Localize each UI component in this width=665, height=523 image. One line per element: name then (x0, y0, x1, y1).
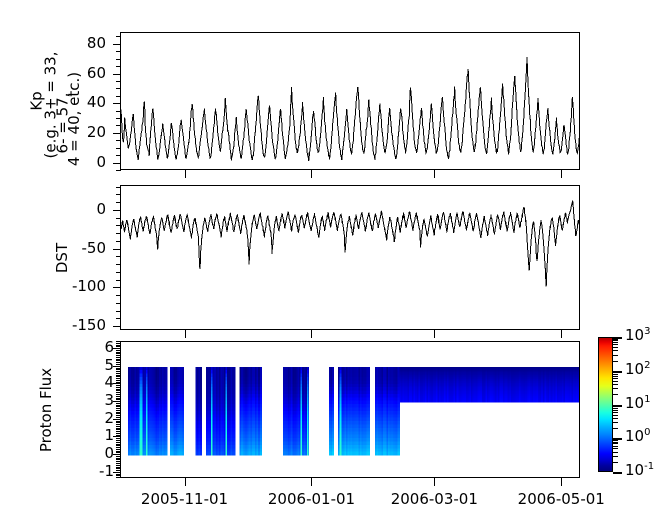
spectrogram-cell (332, 431, 334, 435)
spectrogram-spike-column (146, 394, 148, 398)
y-tick-minor (116, 51, 121, 52)
spectrogram-cell (200, 370, 202, 374)
spectrogram-spike-column (146, 374, 148, 378)
spectrogram-spike-column (301, 414, 303, 418)
spectrogram-spike-column (146, 452, 148, 456)
spectrogram-spike-column (139, 414, 141, 418)
spectrogram-cell (200, 448, 202, 452)
spectrogram-spike-column (307, 448, 309, 452)
spectrogram-cell (260, 452, 262, 456)
y-tick-label: 0 (58, 200, 106, 218)
spectrogram-cell (233, 384, 235, 388)
spectrogram-spike-column (225, 394, 227, 398)
spectrogram-cell (182, 394, 184, 398)
spectrogram-spike-column (340, 374, 342, 378)
spectrogram-spike-column (146, 414, 148, 418)
spectrogram-spike-column (211, 418, 213, 422)
spectrogram-cell (233, 394, 235, 398)
spectrogram-spike-column (141, 384, 143, 388)
spectrogram-spike-column (211, 397, 213, 401)
spectrogram-spike-column (225, 435, 227, 439)
spectrogram-spike-column (211, 448, 213, 452)
spectrogram-spike-column (225, 370, 227, 374)
spectrogram-spike-column (340, 414, 342, 418)
spectrogram-spike-column (225, 448, 227, 452)
spectrogram-cell (165, 384, 167, 388)
spectrogram-cell (165, 448, 167, 452)
spectrogram-spike-column (141, 367, 143, 371)
figure-canvas: 020406080 Kp (e.g. 3+ = 33, 6- = 57, 4 =… (0, 0, 665, 523)
spectrogram-spike-column (301, 384, 303, 388)
spectrogram-spike-column (307, 394, 309, 398)
y-tick-major (113, 133, 121, 134)
spectrogram-cell (182, 435, 184, 439)
x-tick-major (434, 170, 435, 178)
spectrogram-cell (260, 367, 262, 371)
spectrogram-cell (165, 374, 167, 378)
y-tick-minor (116, 202, 121, 203)
spectrogram-cell (200, 394, 202, 398)
x-tick-major (561, 170, 562, 178)
spectrogram-spike-column (141, 401, 143, 405)
spectrogram-cell (200, 414, 202, 418)
spectrogram-spike-column (146, 418, 148, 422)
spectrogram-spike-column (301, 397, 303, 401)
spectrogram-spike-column (307, 401, 309, 405)
spectrogram-cell (165, 452, 167, 456)
spectrogram-spike-column (301, 374, 303, 378)
spectrogram-spike-column (340, 367, 342, 371)
y-tick-minor (116, 118, 121, 119)
spectrogram-spike-column (225, 397, 227, 401)
y-tick-minor (116, 140, 121, 141)
spectrogram-spike-column (307, 370, 309, 374)
spectrogram-spike-column (225, 401, 227, 405)
spectrogram-cell (182, 414, 184, 418)
spectrogram-spike-column (139, 431, 141, 435)
spectrogram-spike-column (307, 397, 309, 401)
y-tick-minor (116, 148, 121, 149)
spectrogram-cell (182, 448, 184, 452)
y-tick-minor (116, 280, 121, 281)
spectrogram-cell (233, 370, 235, 374)
spectrogram-spike-column (225, 418, 227, 422)
spectrogram-cell (368, 435, 370, 439)
y-tick-minor (116, 311, 121, 312)
spectrogram-cell (165, 431, 167, 435)
spectrogram-spike-column (340, 401, 342, 405)
spectrogram-spike-column (211, 394, 213, 398)
spectrogram-spike-column (139, 394, 141, 398)
spectrogram-cell (332, 367, 334, 371)
spectrogram-spike-column (139, 401, 141, 405)
spectrogram-cell (398, 431, 400, 435)
spectrogram-spike-column (146, 435, 148, 439)
spectrogram-cell (368, 394, 370, 398)
spectrogram-spike-column (139, 435, 141, 439)
spectrogram-spike-column (139, 367, 141, 371)
spectrogram-spike-column (211, 374, 213, 378)
spectrogram-cell (182, 401, 184, 405)
spectrogram-cell (233, 397, 235, 401)
spectrogram-cell (200, 367, 202, 371)
spectrogram-cell (398, 414, 400, 418)
spectrogram-spike-column (146, 397, 148, 401)
spectrogram-spike-column (307, 452, 309, 456)
spectrogram-spike-column (301, 367, 303, 371)
y-tick-major (113, 74, 121, 75)
spectrogram-cell (233, 452, 235, 456)
spectrogram-cell (368, 414, 370, 418)
y-tick-minor (116, 295, 121, 296)
spectrogram-spike-column (141, 452, 143, 456)
spectrogram-spike-column (211, 367, 213, 371)
spectrogram-cell (368, 397, 370, 401)
spectrogram-spike-column (340, 448, 342, 452)
spectrogram-cell (332, 401, 334, 405)
spectrogram-spike-column (307, 374, 309, 378)
spectrogram-cell (398, 452, 400, 456)
spectrogram-cell (368, 384, 370, 388)
spectrogram-cell (233, 435, 235, 439)
spectrogram-spike-column (139, 418, 141, 422)
spectrogram-cell (260, 401, 262, 405)
spectrogram-cell (332, 384, 334, 388)
spectrogram-spike-column (340, 384, 342, 388)
spectrogram-spike-column (139, 370, 141, 374)
spectrogram-cell (368, 452, 370, 456)
y-tick-label: -150 (58, 316, 106, 334)
spectrogram-spike-column (225, 452, 227, 456)
y-tick-minor (116, 233, 121, 234)
spectrogram-cell (165, 370, 167, 374)
spectrogram-cell (260, 384, 262, 388)
y-tick-minor (116, 81, 121, 82)
dst-axis-title: DST (53, 242, 71, 272)
y-tick-major (113, 103, 121, 104)
spectrogram-cell (200, 452, 202, 456)
spectrogram-cell (165, 397, 167, 401)
spectrogram-spike-column (307, 414, 309, 418)
spectrogram-spike-column (141, 370, 143, 374)
spectrogram-cell (260, 374, 262, 378)
spectrogram-spike-column (307, 367, 309, 371)
panel-kp (120, 32, 580, 170)
spectrogram-spike-column (301, 401, 303, 405)
y-tick-minor (116, 88, 121, 89)
spectrogram-cell (332, 394, 334, 398)
y-tick-minor (116, 318, 121, 319)
spectrogram-cell (182, 374, 184, 378)
spectrogram-spike-column (301, 435, 303, 439)
spectrogram-cell (233, 414, 235, 418)
spectrogram-spike-column (340, 431, 342, 435)
spectrogram-cell (332, 397, 334, 401)
spectrogram-cell (260, 435, 262, 439)
spectrogram-spike-column (141, 414, 143, 418)
spectrogram-cell (398, 418, 400, 422)
spectrogram-cell (260, 431, 262, 435)
spectrogram-spike-column (139, 452, 141, 456)
spectrogram-spike-column (146, 401, 148, 405)
spectrogram-cell (200, 397, 202, 401)
spectrogram-spike-column (141, 435, 143, 439)
x-tick-major (434, 330, 435, 338)
spectrogram-spike-column (225, 431, 227, 435)
y-tick-minor (116, 96, 121, 97)
spectrogram-cell (260, 418, 262, 422)
x-tick-major (561, 330, 562, 338)
spectrogram-spike-column (141, 374, 143, 378)
dst-trace (121, 186, 580, 330)
y-tick-major (113, 163, 121, 164)
y-tick-major (113, 210, 121, 211)
spectrogram-spike-column (139, 397, 141, 401)
spectrogram-cell (368, 401, 370, 405)
spectrogram-spike-column (301, 418, 303, 422)
y-tick-minor (116, 125, 121, 126)
spectrogram-cell (233, 448, 235, 452)
spectrogram-spike-column (141, 394, 143, 398)
spectrogram-cell (398, 435, 400, 439)
proton-flux-spectrogram (121, 342, 580, 478)
spectrogram-spike-column (139, 374, 141, 378)
spectrogram-cell (368, 370, 370, 374)
spectrogram-spike-column (225, 384, 227, 388)
spectrogram-cell (182, 418, 184, 422)
spectrogram-cell (233, 431, 235, 435)
spectrogram-cell (233, 401, 235, 405)
y-tick-major (113, 44, 121, 45)
x-tick-major (185, 170, 186, 178)
y-tick-label: 80 (58, 34, 106, 52)
spectrogram-cell (368, 367, 370, 371)
y-tick-minor (116, 36, 121, 37)
spectrogram-spike-column (141, 448, 143, 452)
y-tick-minor (116, 272, 121, 273)
spectrogram-spike-column (225, 367, 227, 371)
spectrogram-spike-column (301, 394, 303, 398)
spectrogram-spike-column (211, 452, 213, 456)
spectrogram-spike-column (146, 431, 148, 435)
spectrogram-spike-column (211, 401, 213, 405)
spectrogram-cell (200, 431, 202, 435)
spectrogram-spike-column (211, 370, 213, 374)
spectrogram-cell (200, 418, 202, 422)
spectrogram-cell (368, 418, 370, 422)
spectrogram-cell (165, 367, 167, 371)
kp-axis-title-line-4: 4 = 40, etc.) (65, 72, 83, 166)
spectrogram-spike-column (301, 431, 303, 435)
spectrogram-spike-column (146, 370, 148, 374)
spectrogram-cell (182, 397, 184, 401)
y-tick-label: -100 (58, 277, 106, 295)
spectrogram-cell (233, 367, 235, 371)
kp-trace (121, 33, 580, 170)
spectrogram-spike-column (211, 431, 213, 435)
spectrogram-spike-column (139, 384, 141, 388)
spectrogram-cell (165, 394, 167, 398)
y-tick-major (113, 326, 121, 327)
y-tick-major (113, 249, 121, 250)
spectrogram-spike-column (340, 418, 342, 422)
spectrogram-cell (182, 431, 184, 435)
spectrogram-cell (260, 448, 262, 452)
spectrogram-spike-column (141, 418, 143, 422)
spectrogram-cell (182, 384, 184, 388)
spectrogram-cell (165, 414, 167, 418)
y-tick-minor (116, 256, 121, 257)
spectrogram-spike-column (146, 384, 148, 388)
y-tick-minor (116, 241, 121, 242)
spectrogram-cell (260, 370, 262, 374)
y-tick-minor (116, 59, 121, 60)
kp-line (121, 57, 580, 161)
spectrogram-cell (200, 374, 202, 378)
spectrogram-cell (332, 448, 334, 452)
spectrogram-cell (260, 414, 262, 418)
spectrogram-cell (332, 374, 334, 378)
spectrogram-spike-column (340, 452, 342, 456)
spectrogram-spike-column (301, 452, 303, 456)
spectrogram-spike-column (225, 414, 227, 418)
spectrogram-cell (200, 401, 202, 405)
y-tick-minor (116, 187, 121, 188)
y-tick-minor (116, 218, 121, 219)
spectrogram-spike-column (146, 367, 148, 371)
spectrogram-cell (165, 435, 167, 439)
panel-dst (120, 185, 580, 330)
spectrogram-cell (165, 418, 167, 422)
spectrogram-cell (260, 394, 262, 398)
spectrogram-spike-column (307, 384, 309, 388)
spectrogram-cell (182, 370, 184, 374)
spectrogram-spike-column (307, 435, 309, 439)
spectrogram-spike-column (211, 414, 213, 418)
spectrogram-spike-column (301, 448, 303, 452)
y-tick-minor (116, 303, 121, 304)
spectrogram-spike-column (139, 448, 141, 452)
y-tick-minor (116, 155, 121, 156)
spectrogram-cell (368, 374, 370, 378)
spectrogram-spike-column (340, 370, 342, 374)
dst-line (121, 200, 580, 286)
spectrogram-cell (398, 448, 400, 452)
spectrogram-spike-column (307, 431, 309, 435)
spectrogram-cell (233, 374, 235, 378)
spectrogram-spike-column (301, 370, 303, 374)
spectrogram-cell (332, 414, 334, 418)
x-tick-major (311, 170, 312, 178)
spectrogram-spike-column (211, 435, 213, 439)
y-tick-minor (116, 66, 121, 67)
spectrogram-spike-column (146, 448, 148, 452)
spectrogram-cell (332, 452, 334, 456)
spectrogram-spike-column (340, 397, 342, 401)
spectrogram-cell (200, 384, 202, 388)
spectrogram-cell (332, 435, 334, 439)
spectrogram-spike-column (340, 435, 342, 439)
spectrogram-cell (368, 431, 370, 435)
y-tick-minor (116, 264, 121, 265)
spectrogram-cell (332, 418, 334, 422)
x-tick-major (311, 330, 312, 338)
spectrogram-spike-column (340, 394, 342, 398)
y-tick-minor (116, 225, 121, 226)
spectrogram-spike-column (211, 384, 213, 388)
spectrogram-cell (233, 418, 235, 422)
spectrogram-cell (332, 370, 334, 374)
spectrogram-spike-column (141, 431, 143, 435)
spectrogram-cell (200, 435, 202, 439)
y-tick-minor (116, 194, 121, 195)
spectrogram-cell (182, 367, 184, 371)
y-tick-minor (116, 111, 121, 112)
y-tick-major (113, 287, 121, 288)
spectrogram-spike-column (225, 374, 227, 378)
spectrogram-cell (368, 448, 370, 452)
x-tick-major (185, 330, 186, 338)
spectrogram-cell (260, 397, 262, 401)
spectrogram-cell (182, 452, 184, 456)
spectrogram-cell (165, 401, 167, 405)
spectrogram-spike-column (141, 397, 143, 401)
spectrogram-spike-column (307, 418, 309, 422)
panel-proton-flux (120, 341, 580, 478)
y-tick-minor (116, 170, 121, 171)
